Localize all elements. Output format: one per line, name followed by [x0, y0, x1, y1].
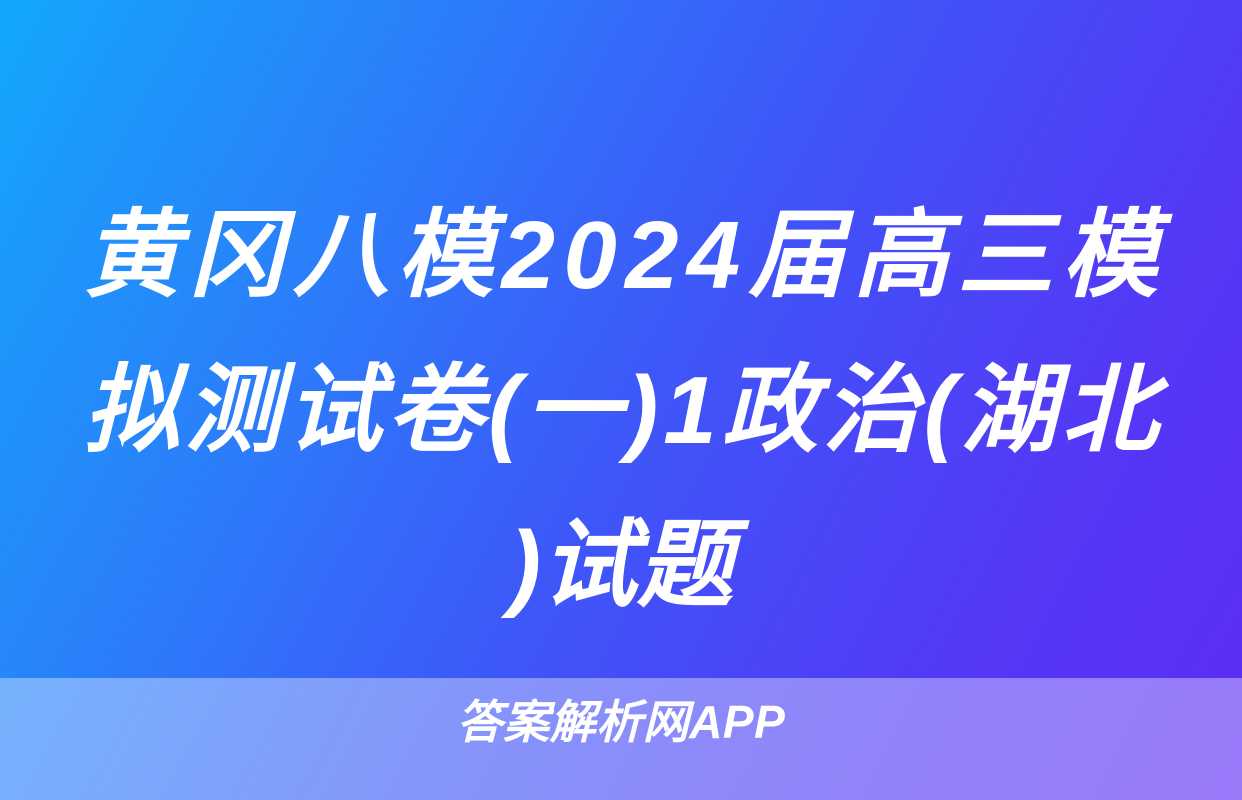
page-title: 黄 冈 八 模 2 0 2 4 届 高 三 模 拟 测 试 卷 ( 一 ) 1 … [84, 178, 1158, 643]
title-glyph: 拟 [84, 333, 180, 488]
title-glyph: 届 [749, 178, 845, 333]
title-glyph: 0 [563, 178, 616, 333]
title-glyph: 试 [286, 333, 382, 488]
title-glyph: ( [488, 333, 520, 488]
title-glyph: 模 [1062, 178, 1158, 333]
title-glyph: 测 [185, 333, 281, 488]
title-line-1: 黄 冈 八 模 2 0 2 4 届 高 三 模 [84, 178, 1158, 333]
title-glyph: 2 [625, 178, 678, 333]
title-glyph: 北 [1062, 333, 1158, 488]
title-glyph: 4 [687, 178, 740, 333]
title-line-2: 拟 测 试 卷 ( 一 ) 1 政 治 ( 湖 北 [84, 333, 1158, 488]
watermark-text: 答案解析网APP [0, 694, 1242, 750]
title-glyph: 三 [957, 178, 1053, 333]
title-glyph: 卷 [387, 333, 483, 488]
title-line-3: )试题 [84, 488, 1158, 643]
title-glyph: 模 [397, 178, 493, 333]
title-glyph: 湖 [961, 333, 1057, 488]
title-glyph: 治 [823, 333, 919, 488]
poster-canvas: 黄 冈 八 模 2 0 2 4 届 高 三 模 拟 测 试 卷 ( 一 ) 1 … [0, 0, 1242, 800]
title-glyph: ) [626, 333, 658, 488]
title-glyph: 黄 [84, 178, 180, 333]
title-glyph: 高 [853, 178, 949, 333]
title-glyph: 八 [293, 178, 389, 333]
title-glyph: 冈 [188, 178, 284, 333]
title-glyph: 政 [722, 333, 818, 488]
title-glyph: 1 [663, 333, 716, 488]
title-glyph: 2 [502, 178, 555, 333]
title-glyph: ( [924, 333, 956, 488]
title-glyph: 一 [525, 333, 621, 488]
